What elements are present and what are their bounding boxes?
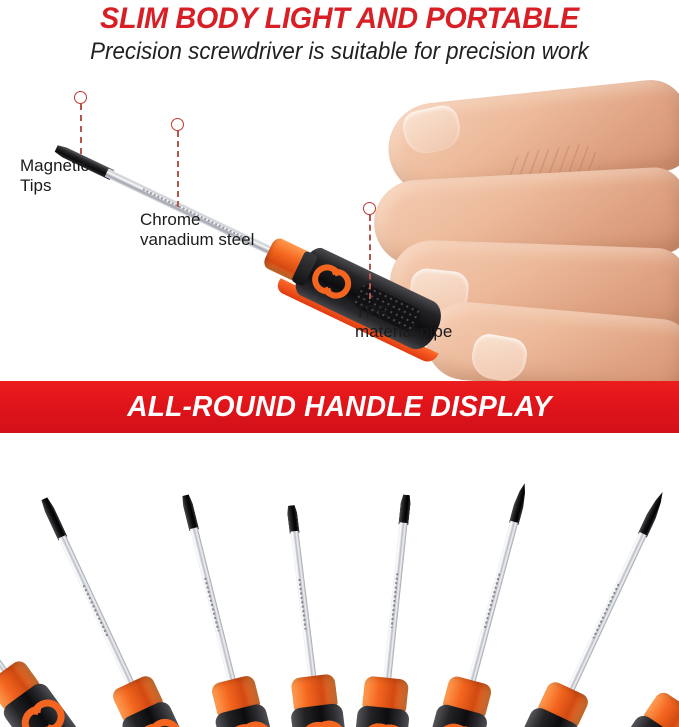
hero-photo: Magnetic Tips Chrome vanadium steel TPR … <box>0 74 679 381</box>
driver-tip <box>181 494 199 531</box>
callout-marker-magnetic-tips <box>74 91 87 104</box>
driver-tip <box>638 490 667 538</box>
brand-logo-icon <box>520 722 569 727</box>
brand-logo-icon <box>360 722 401 727</box>
product-feature-image: SLIM BODY LIGHT AND PORTABLE Precision s… <box>0 0 679 727</box>
driver-shaft <box>566 532 647 694</box>
driver-shaft <box>674 554 679 708</box>
driver-tip <box>286 505 299 534</box>
headline-block: SLIM BODY LIGHT AND PORTABLE Precision s… <box>0 0 679 74</box>
driver-tip <box>40 497 68 541</box>
callout-leader-magnetic-tips <box>80 104 82 154</box>
brand-logo-icon <box>433 720 479 727</box>
driver-shaft <box>0 550 9 676</box>
brand-logo-icon <box>307 259 351 301</box>
handle-display-photo <box>0 435 679 727</box>
brand-logo-icon <box>299 719 341 727</box>
driver-shaft <box>383 522 408 682</box>
callout-leader-chrome-vanadium-steel <box>177 131 179 207</box>
page-subtitle: Precision screwdriver is suitable for pr… <box>24 38 655 66</box>
brand-logo-icon <box>15 697 66 727</box>
screwdriver-driver-4 <box>264 502 356 727</box>
section-banner: ALL-ROUND HANDLE DISPLAY <box>0 381 679 433</box>
brand-logo-icon <box>224 720 269 727</box>
driver-shaft <box>467 521 518 685</box>
callout-leader-tpr-material-pipe <box>369 215 371 299</box>
driver-tip <box>398 494 411 525</box>
driver-shaft <box>190 527 236 684</box>
driver-tip <box>509 482 530 525</box>
driver-shaft <box>58 535 135 688</box>
brand-logo-icon <box>132 716 181 727</box>
page-title: SLIM BODY LIGHT AND PORTABLE <box>14 2 666 36</box>
callout-marker-tpr-material-pipe <box>363 202 376 215</box>
callout-marker-chrome-vanadium-steel <box>171 118 184 131</box>
screwdriver-driver-5 <box>345 492 433 727</box>
callout-label-chrome-vanadium-steel: Chrome vanadium steel <box>140 210 254 250</box>
callout-label-magnetic-tips: Magnetic Tips <box>20 156 89 196</box>
banner-title: ALL-ROUND HANDLE DISPLAY <box>10 381 669 433</box>
callout-label-tpr-material-pipe: TPR material pipe <box>355 302 452 342</box>
driver-shaft <box>290 531 316 681</box>
